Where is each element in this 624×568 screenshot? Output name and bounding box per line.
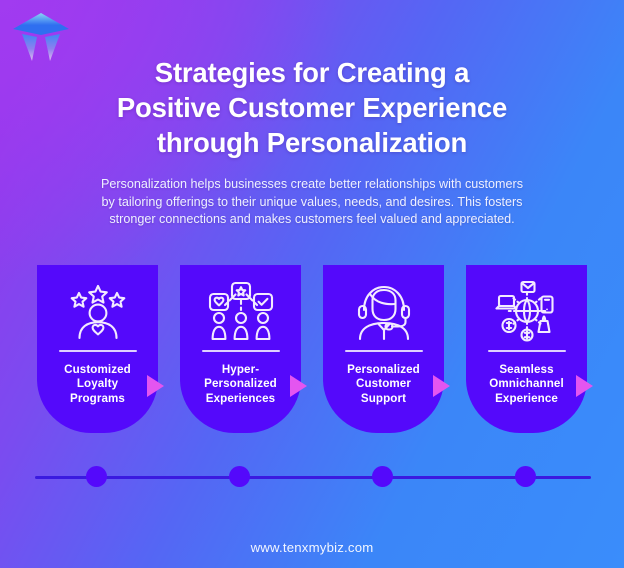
timeline-dot — [86, 466, 107, 487]
globe-omnichannel-network-icon — [491, 280, 563, 342]
strategy-card-personalized-customer-support[interactable]: Personalized Customer Support — [323, 265, 444, 433]
right-triangle-arrow-icon — [433, 375, 450, 397]
page-title: Strategies for Creating a Positive Custo… — [62, 55, 562, 160]
page-subtitle: Personalization helps businesses create … — [52, 176, 572, 229]
timeline-dot — [515, 466, 536, 487]
timeline-dot — [372, 466, 393, 487]
subtitle-line: Personalization helps businesses create … — [52, 176, 572, 194]
card-label-line: Personalized — [328, 363, 440, 378]
card-label-line: Support — [328, 392, 440, 407]
card-label-line: Seamless — [471, 363, 583, 378]
right-triangle-arrow-icon — [290, 375, 307, 397]
title-line: Strategies for Creating a — [62, 55, 562, 90]
card-label-line: Personalized — [185, 377, 297, 392]
card-divider — [488, 350, 566, 352]
card-label: Customized Loyalty Programs — [42, 363, 154, 407]
card-label-line: Programs — [42, 392, 154, 407]
strategy-card-list: Customized Loyalty Programs — [37, 265, 587, 433]
timeline-line — [35, 476, 591, 479]
card-label-line: Hyper- — [185, 363, 297, 378]
card-divider — [202, 350, 280, 352]
footer-url[interactable]: www.tenxmybiz.com — [0, 540, 624, 555]
timeline — [35, 466, 591, 488]
subtitle-line: by tailoring offerings to their unique v… — [52, 194, 572, 212]
card-label-line: Experience — [471, 392, 583, 407]
subtitle-line: stronger connections and makes customers… — [52, 211, 572, 229]
infographic-poster: Strategies for Creating a Positive Custo… — [0, 0, 624, 568]
card-label: Hyper- Personalized Experiences — [185, 363, 297, 407]
three-people-preferences-icon — [205, 280, 277, 342]
strategy-card-customized-loyalty-programs[interactable]: Customized Loyalty Programs — [37, 265, 158, 433]
card-label: Seamless Omnichannel Experience — [471, 363, 583, 407]
title-line: Positive Customer Experience — [62, 90, 562, 125]
card-label-line: Loyalty — [42, 377, 154, 392]
card-label-line: Omnichannel — [471, 377, 583, 392]
right-triangle-arrow-icon — [576, 375, 593, 397]
strategy-card-hyper-personalized-experiences[interactable]: Hyper- Personalized Experiences — [180, 265, 301, 433]
headset-support-agent-icon — [348, 280, 420, 342]
card-label-line: Customer — [328, 377, 440, 392]
title-line: through Personalization — [62, 125, 562, 160]
card-label: Personalized Customer Support — [328, 363, 440, 407]
right-triangle-arrow-icon — [147, 375, 164, 397]
timeline-dot — [229, 466, 250, 487]
strategy-card-seamless-omnichannel-experience[interactable]: Seamless Omnichannel Experience — [466, 265, 587, 433]
card-label-line: Experiences — [185, 392, 297, 407]
stars-person-heart-icon — [62, 280, 134, 342]
card-label-line: Customized — [42, 363, 154, 378]
card-divider — [59, 350, 137, 352]
card-divider — [345, 350, 423, 352]
